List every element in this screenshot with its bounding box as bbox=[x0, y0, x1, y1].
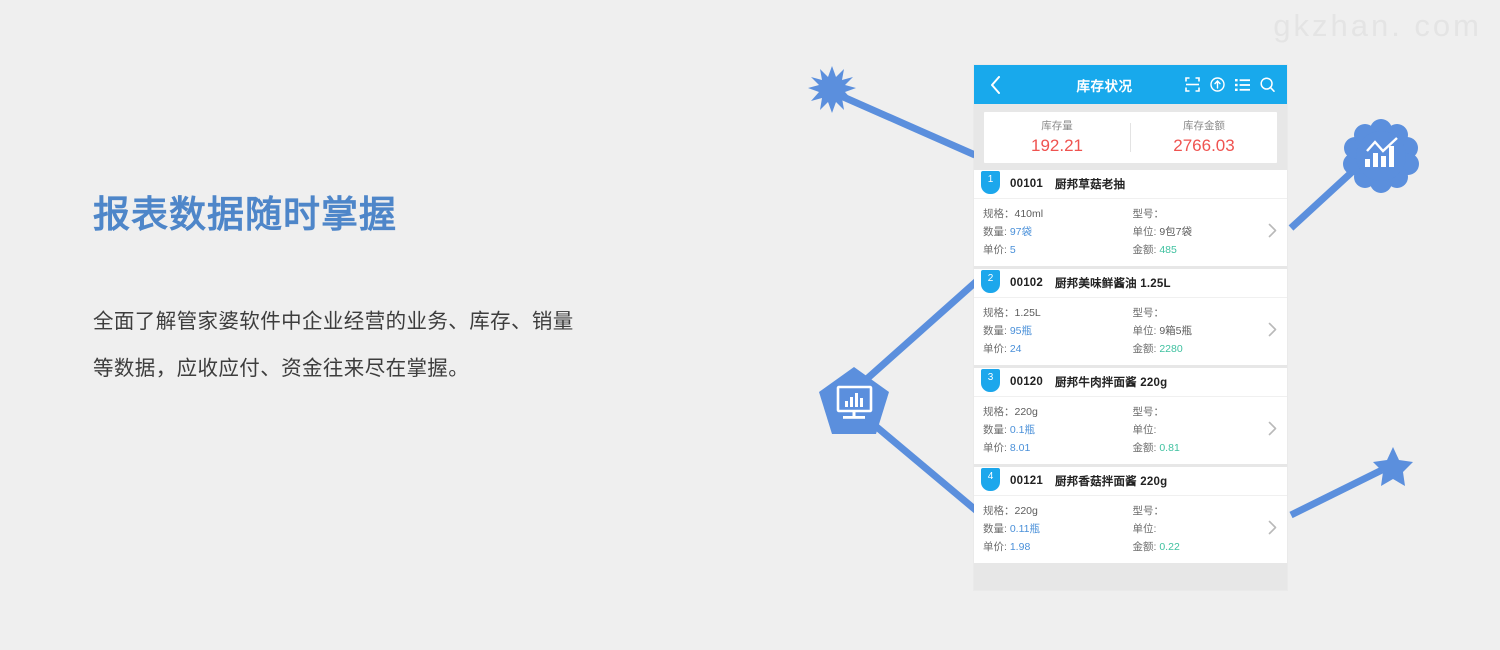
model-label: 型号： bbox=[1133, 208, 1165, 220]
app-title: 库存状况 bbox=[1006, 75, 1185, 95]
item-model-row: 型号： bbox=[1133, 403, 1288, 421]
list-item-body: 规格：410ml 数量: 97袋 单价: 5 型号： 单位: 9包7袋 金额: … bbox=[974, 199, 1287, 266]
list-item[interactable]: 2 00102 厨邦美味鲜酱油 1.25L 规格：1.25L 数量: 95瓶 单… bbox=[974, 269, 1287, 365]
spec-label: 规格： bbox=[983, 406, 1015, 418]
price-value: 5 bbox=[1010, 244, 1016, 256]
item-qty-row: 数量: 0.11瓶 bbox=[983, 520, 1131, 538]
item-name: 厨邦美味鲜酱油 1.25L bbox=[1055, 275, 1171, 291]
item-code: 00121 bbox=[1010, 475, 1043, 487]
list-item[interactable]: 1 00101 厨邦草菇老抽 规格：410ml 数量: 97袋 单价: 5 型号… bbox=[974, 170, 1287, 266]
amount-label: 金额: bbox=[1133, 244, 1157, 256]
item-spec-row: 规格：410ml bbox=[983, 205, 1131, 223]
item-col-right: 型号： 单位: 金额: 0.22 bbox=[1131, 502, 1288, 556]
summary-label: 库存金额 bbox=[1131, 119, 1277, 134]
item-code: 00102 bbox=[1010, 277, 1043, 289]
item-spec-row: 规格：220g bbox=[983, 502, 1131, 520]
list-item-body: 规格：1.25L 数量: 95瓶 单价: 24 型号： 单位: 9箱5瓶 金额:… bbox=[974, 298, 1287, 365]
list-item[interactable]: 3 00120 厨邦牛肉拌面酱 220g 规格：220g 数量: 0.1瓶 单价… bbox=[974, 368, 1287, 464]
item-name: 厨邦草菇老抽 bbox=[1055, 176, 1125, 192]
item-spec-row: 规格：1.25L bbox=[983, 304, 1131, 322]
summary-value: 192.21 bbox=[984, 135, 1130, 157]
item-name: 厨邦牛肉拌面酱 220g bbox=[1055, 374, 1167, 390]
price-label: 单价: bbox=[983, 343, 1007, 355]
list-icon[interactable] bbox=[1235, 78, 1250, 92]
header-icon-group bbox=[1185, 77, 1277, 92]
chevron-left-icon bbox=[990, 76, 1001, 94]
price-value: 8.01 bbox=[1010, 442, 1030, 454]
chevron-right-icon[interactable] bbox=[1268, 223, 1277, 243]
spec-label: 规格： bbox=[983, 208, 1015, 220]
qty-value: 95瓶 bbox=[1010, 325, 1032, 337]
item-price-row: 单价: 24 bbox=[983, 340, 1131, 358]
item-amount-row: 金额: 0.22 bbox=[1133, 538, 1288, 556]
item-spec-row: 规格：220g bbox=[983, 403, 1131, 421]
list-item-header: 2 00102 厨邦美味鲜酱油 1.25L bbox=[974, 269, 1287, 298]
item-col-left: 规格：1.25L 数量: 95瓶 单价: 24 bbox=[974, 304, 1131, 358]
amount-value: 2280 bbox=[1159, 343, 1182, 355]
amount-label: 金额: bbox=[1133, 541, 1157, 553]
price-label: 单价: bbox=[983, 442, 1007, 454]
qty-label: 数量: bbox=[983, 424, 1007, 436]
item-unit-row: 单位: 9箱5瓶 bbox=[1133, 322, 1288, 340]
spec-label: 规格： bbox=[983, 307, 1015, 319]
item-code: 00120 bbox=[1010, 376, 1043, 388]
list-item[interactable]: 4 00121 厨邦香菇拌面酱 220g 规格：220g 数量: 0.11瓶 单… bbox=[974, 467, 1287, 563]
app-header: 库存状况 bbox=[974, 65, 1287, 104]
price-value: 24 bbox=[1010, 343, 1022, 355]
scan-icon[interactable] bbox=[1185, 77, 1200, 92]
list-item-header: 1 00101 厨邦草菇老抽 bbox=[974, 170, 1287, 199]
back-button[interactable] bbox=[984, 76, 1006, 94]
unit-label: 单位: bbox=[1133, 226, 1157, 238]
item-amount-row: 金额: 2280 bbox=[1133, 340, 1288, 358]
item-unit-row: 单位: 9包7袋 bbox=[1133, 223, 1288, 241]
item-amount-row: 金额: 485 bbox=[1133, 241, 1288, 259]
summary-label: 库存量 bbox=[984, 119, 1130, 134]
list-item-header: 3 00120 厨邦牛肉拌面酱 220g bbox=[974, 368, 1287, 397]
product-list: 1 00101 厨邦草菇老抽 规格：410ml 数量: 97袋 单价: 5 型号… bbox=[974, 170, 1287, 563]
item-index-badge: 4 bbox=[981, 468, 1000, 491]
amount-value: 485 bbox=[1159, 244, 1177, 256]
summary-cell-stock-qty: 库存量 192.21 bbox=[984, 119, 1130, 157]
item-amount-row: 金额: 0.81 bbox=[1133, 439, 1288, 457]
item-model-row: 型号： bbox=[1133, 304, 1288, 322]
starburst-icon bbox=[806, 64, 858, 116]
summary-card: 库存量 192.21 库存金额 2766.03 bbox=[984, 112, 1277, 163]
item-col-left: 规格：220g 数量: 0.1瓶 单价: 8.01 bbox=[974, 403, 1131, 457]
amount-label: 金额: bbox=[1133, 442, 1157, 454]
model-label: 型号： bbox=[1133, 307, 1165, 319]
qty-value: 97袋 bbox=[1010, 226, 1032, 238]
item-name: 厨邦香菇拌面酱 220g bbox=[1055, 473, 1167, 489]
model-label: 型号： bbox=[1133, 505, 1165, 517]
connector-line-5 bbox=[1291, 470, 1382, 515]
item-unit-row: 单位: bbox=[1133, 421, 1288, 439]
amount-label: 金额: bbox=[1133, 343, 1157, 355]
summary-cell-stock-amount: 库存金额 2766.03 bbox=[1131, 119, 1277, 157]
bar-line-chart-icon bbox=[1342, 118, 1420, 194]
item-qty-row: 数量: 0.1瓶 bbox=[983, 421, 1131, 439]
item-col-right: 型号： 单位: 金额: 0.81 bbox=[1131, 403, 1288, 457]
item-col-right: 型号： 单位: 9包7袋 金额: 485 bbox=[1131, 205, 1288, 259]
model-label: 型号： bbox=[1133, 406, 1165, 418]
qty-label: 数量: bbox=[983, 226, 1007, 238]
item-code: 00101 bbox=[1010, 178, 1043, 190]
list-item-body: 规格：220g 数量: 0.11瓶 单价: 1.98 型号： 单位: 金额: 0… bbox=[974, 496, 1287, 563]
amount-value: 0.22 bbox=[1159, 541, 1179, 553]
chevron-right-icon[interactable] bbox=[1268, 520, 1277, 540]
price-value: 1.98 bbox=[1010, 541, 1030, 553]
unit-label: 单位: bbox=[1133, 523, 1157, 535]
amount-value: 0.81 bbox=[1159, 442, 1179, 454]
qty-label: 数量: bbox=[983, 523, 1007, 535]
star-icon bbox=[1372, 446, 1414, 488]
search-icon[interactable] bbox=[1260, 77, 1275, 92]
upload-circle-icon[interactable] bbox=[1210, 77, 1225, 92]
item-price-row: 单价: 8.01 bbox=[983, 439, 1131, 457]
item-col-right: 型号： 单位: 9箱5瓶 金额: 2280 bbox=[1131, 304, 1288, 358]
unit-value: 9箱5瓶 bbox=[1159, 325, 1192, 337]
spec-label: 规格： bbox=[983, 505, 1015, 517]
qty-value: 0.1瓶 bbox=[1010, 424, 1035, 436]
qty-value: 0.11瓶 bbox=[1010, 523, 1040, 535]
item-index-badge: 2 bbox=[981, 270, 1000, 293]
chevron-right-icon[interactable] bbox=[1268, 421, 1277, 441]
item-price-row: 单价: 1.98 bbox=[983, 538, 1131, 556]
price-label: 单价: bbox=[983, 541, 1007, 553]
item-unit-row: 单位: bbox=[1133, 520, 1288, 538]
item-model-row: 型号： bbox=[1133, 205, 1288, 223]
chevron-right-icon[interactable] bbox=[1268, 322, 1277, 342]
item-price-row: 单价: 5 bbox=[983, 241, 1131, 259]
spec-value: 220g bbox=[1015, 505, 1038, 517]
page-description: 全面了解管家婆软件中企业经营的业务、库存、销量等数据，应收应付、资金往来尽在掌握… bbox=[93, 298, 593, 392]
item-qty-row: 数量: 95瓶 bbox=[983, 322, 1131, 340]
item-index-badge: 1 bbox=[981, 171, 1000, 194]
spec-value: 220g bbox=[1015, 406, 1038, 418]
item-col-left: 规格：220g 数量: 0.11瓶 单价: 1.98 bbox=[974, 502, 1131, 556]
item-model-row: 型号： bbox=[1133, 502, 1288, 520]
summary-value: 2766.03 bbox=[1131, 135, 1277, 157]
unit-value: 9包7袋 bbox=[1159, 226, 1192, 238]
unit-label: 单位: bbox=[1133, 424, 1157, 436]
unit-label: 单位: bbox=[1133, 325, 1157, 337]
list-item-body: 规格：220g 数量: 0.1瓶 单价: 8.01 型号： 单位: 金额: 0.… bbox=[974, 397, 1287, 464]
price-label: 单价: bbox=[983, 244, 1007, 256]
copy-block: 报表数据随时掌握 全面了解管家婆软件中企业经营的业务、库存、销量等数据，应收应付… bbox=[93, 192, 633, 392]
page-title: 报表数据随时掌握 bbox=[93, 192, 633, 238]
spec-value: 410ml bbox=[1015, 208, 1044, 220]
spec-value: 1.25L bbox=[1015, 307, 1041, 319]
site-watermark: gkzhan. com bbox=[1273, 8, 1482, 44]
summary-section: 库存量 192.21 库存金额 2766.03 bbox=[974, 104, 1287, 170]
qty-label: 数量: bbox=[983, 325, 1007, 337]
item-index-badge: 3 bbox=[981, 369, 1000, 392]
monitor-chart-icon bbox=[818, 366, 890, 436]
item-qty-row: 数量: 97袋 bbox=[983, 223, 1131, 241]
list-item-header: 4 00121 厨邦香菇拌面酱 220g bbox=[974, 467, 1287, 496]
phone-mockup: 库存状况 bbox=[974, 65, 1287, 590]
item-col-left: 规格：410ml 数量: 97袋 单价: 5 bbox=[974, 205, 1131, 259]
